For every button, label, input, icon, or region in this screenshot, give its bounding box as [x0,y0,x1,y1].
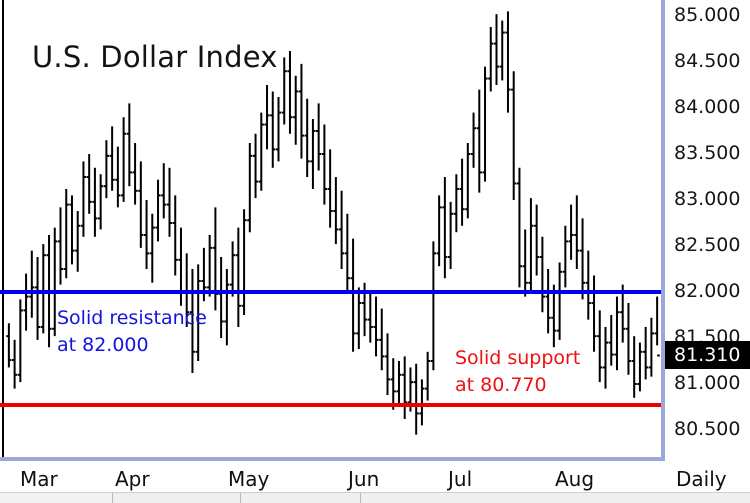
ohlc-bar [104,140,109,198]
support-annotation-line2: at 80.770 [455,372,580,399]
ohlc-bar [41,244,46,333]
ohlc-bar [414,364,419,435]
ohlc-bar [207,235,212,297]
ohlc-bar [477,90,482,193]
ohlc-bar [568,205,573,260]
ohlc-bar [350,239,355,352]
ohlc-bar [98,174,103,229]
ohlc-bar [115,147,120,208]
price-tick-label: 85.000 [674,4,740,26]
ohlc-bar [431,241,436,370]
bottom-status-strip [0,492,750,503]
ohlc-bar [178,228,183,306]
ohlc-bar [241,209,246,315]
ohlc-bar [391,358,396,410]
ohlc-bar [18,299,23,382]
ohlc-bar [614,297,619,371]
ohlc-bar [155,180,160,242]
month-label: Jul [448,467,472,491]
ohlc-bar [305,99,310,177]
ohlc-bar [437,195,442,266]
month-label: Apr [115,467,150,491]
ohlc-bar [287,51,292,134]
ohlc-bar [253,134,258,198]
month-label: May [228,467,269,491]
ohlc-bar [540,237,545,312]
ohlc-bar [259,113,264,191]
ohlc-bar [597,310,602,382]
plot-area[interactable]: U.S. Dollar Index Solid resistance at 82… [0,0,665,461]
ohlc-bar [328,149,333,227]
ohlc-bar [603,327,608,389]
ohlc-bar [471,113,476,168]
ohlc-bar [563,226,568,288]
ohlc-bar [557,263,562,340]
ohlc-bar [293,76,298,145]
ohlc-bar [69,195,74,264]
ohlc-bar [655,297,660,356]
ohlc-bar [649,318,654,377]
ohlc-bar [316,103,321,170]
price-tick-label: 82.500 [674,234,740,256]
ohlc-bar [219,257,224,338]
ohlc-bar [379,309,384,371]
ohlc-bar [224,269,229,345]
month-label: Aug [555,467,594,491]
ohlc-bar [459,159,464,226]
period-label[interactable]: Daily [676,467,727,491]
ohlc-bar [580,218,585,299]
ohlc-bar [402,356,407,419]
resistance-line[interactable] [0,290,665,294]
month-label: Jun [348,467,379,491]
ohlc-bar [385,333,390,395]
ohlc-bar [270,91,275,167]
ohlc-bar [591,275,596,351]
ohlc-bar [282,57,287,124]
ohlc-bar [161,163,166,218]
ohlc-bar [247,143,252,232]
ohlc-bar [546,269,551,333]
ohlc-bar [127,103,132,186]
ohlc-bar [368,292,373,343]
ohlc-bar [448,202,453,269]
ohlc-bar [637,343,642,392]
price-tick-label: 80.500 [674,418,740,440]
ohlc-bar [29,251,34,318]
ohlc-bar [213,207,218,310]
ohlc-bar [454,174,459,232]
support-annotation-line1: Solid support [455,345,580,372]
ohlc-bar [528,198,533,294]
ohlc-bar [121,117,126,202]
chart-title: U.S. Dollar Index [32,40,278,74]
ohlc-bar [81,161,86,236]
ohlc-bar [58,207,63,284]
support-annotation: Solid support at 80.770 [455,345,580,399]
ohlc-bar [276,97,281,161]
price-tick-label: 83.000 [674,188,740,210]
ohlc-bar [442,177,447,278]
ohlc-bar [264,85,269,149]
ohlc-bar [482,67,487,182]
ohlc-bar [35,257,40,340]
price-tick-label: 83.500 [674,142,740,164]
ohlc-bar [299,64,304,159]
ohlc-bar [75,211,80,272]
ohlc-bar [167,168,172,237]
ohlc-bar [322,125,327,205]
month-label: Mar [20,467,58,491]
current-price-tag: 81.310 [665,341,750,369]
ohlc-bar [396,361,401,404]
ohlc-bar [144,200,149,269]
ohlc-bar [494,14,499,85]
price-axis[interactable]: 80.50081.00081.50082.00082.50083.00083.5… [669,0,750,461]
ohlc-bar [643,327,648,379]
ohlc-bar [586,251,591,320]
ohlc-bar [632,336,637,398]
ohlc-bar [236,228,241,327]
ohlc-bar [333,177,338,244]
current-price-value: 81.310 [674,344,740,366]
ohlc-bar [339,191,344,269]
ohlc-bar [6,323,11,367]
ohlc-bar [626,303,631,375]
ohlc-bar [132,143,137,205]
ohlc-bar [574,195,579,269]
ohlc-bar [12,340,17,389]
chart-window: U.S. Dollar Index Solid resistance at 82… [0,0,750,502]
ohlc-bar [517,168,522,288]
resistance-annotation-line2: at 82.000 [57,332,207,359]
ohlc-bar [92,168,97,237]
ohlc-bar [87,154,92,214]
ohlc-bar [356,287,361,349]
ohlc-bar [23,274,28,331]
ohlc-bar [523,229,528,296]
ohlc-bar [64,189,69,278]
ohlc-bar [551,285,556,348]
ohlc-bar [609,315,614,366]
ohlc-bar [173,195,178,275]
ohlc-bar [500,21,505,81]
resistance-annotation-line1: Solid resistance [57,305,207,332]
support-line[interactable] [0,403,665,407]
ohlc-bar [230,241,235,296]
ohlc-bar [505,11,510,112]
ohlc-bar [373,297,378,357]
price-tick-label: 84.500 [674,50,740,72]
ohlc-bar [345,214,350,294]
ohlc-bar [488,27,493,91]
ohlc-bar [511,71,516,200]
ohlc-bar [310,119,315,189]
ohlc-bar [425,352,430,401]
price-tick-label: 84.000 [674,96,740,118]
ohlc-bar [534,205,539,276]
ohlc-bar [465,143,470,218]
resistance-annotation: Solid resistance at 82.000 [57,305,207,359]
ohlc-bar [138,161,143,247]
ohlc-bar [150,214,155,283]
ohlc-bar [110,126,115,190]
price-tick-label: 82.000 [674,280,740,302]
price-tick-label: 81.000 [674,372,740,394]
